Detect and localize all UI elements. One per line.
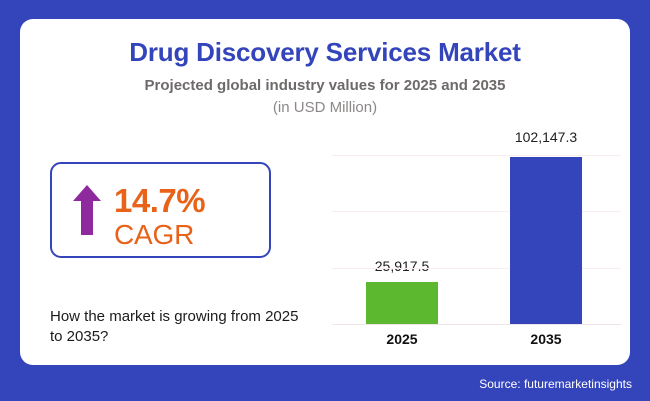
cagr-callout-inner: 14.7% CAGR xyxy=(52,164,269,256)
bar-value-2035: 102,147.3 xyxy=(491,129,601,145)
arrow-up-icon xyxy=(72,184,102,236)
category-label-2025: 2025 xyxy=(347,331,457,347)
source-attribution: Source: futuremarketinsights xyxy=(479,377,632,391)
cagr-callout-box: 14.7% CAGR xyxy=(50,162,271,258)
gridline-120000 xyxy=(332,155,621,156)
bar-2035[interactable] xyxy=(510,157,582,324)
infographic-root: Drug Discovery Services Market Projected… xyxy=(0,0,650,401)
cagr-value: 14.7% xyxy=(114,182,205,220)
category-label-2035: 2035 xyxy=(491,331,601,347)
page-title: Drug Discovery Services Market xyxy=(20,37,630,68)
bar-chart: 102,147.3 25,917.5 2025 2035 xyxy=(332,119,634,365)
cagr-label: CAGR xyxy=(114,219,194,251)
x-axis-line xyxy=(332,324,621,325)
bar-2025[interactable] xyxy=(366,282,438,324)
plot-area xyxy=(332,155,621,325)
subtitle: Projected global industry values for 202… xyxy=(20,77,630,94)
content-card: Drug Discovery Services Market Projected… xyxy=(20,19,630,365)
units-label: (in USD Million) xyxy=(20,99,630,116)
growth-question-text: How the market is growing from 2025 to 2… xyxy=(50,307,300,347)
